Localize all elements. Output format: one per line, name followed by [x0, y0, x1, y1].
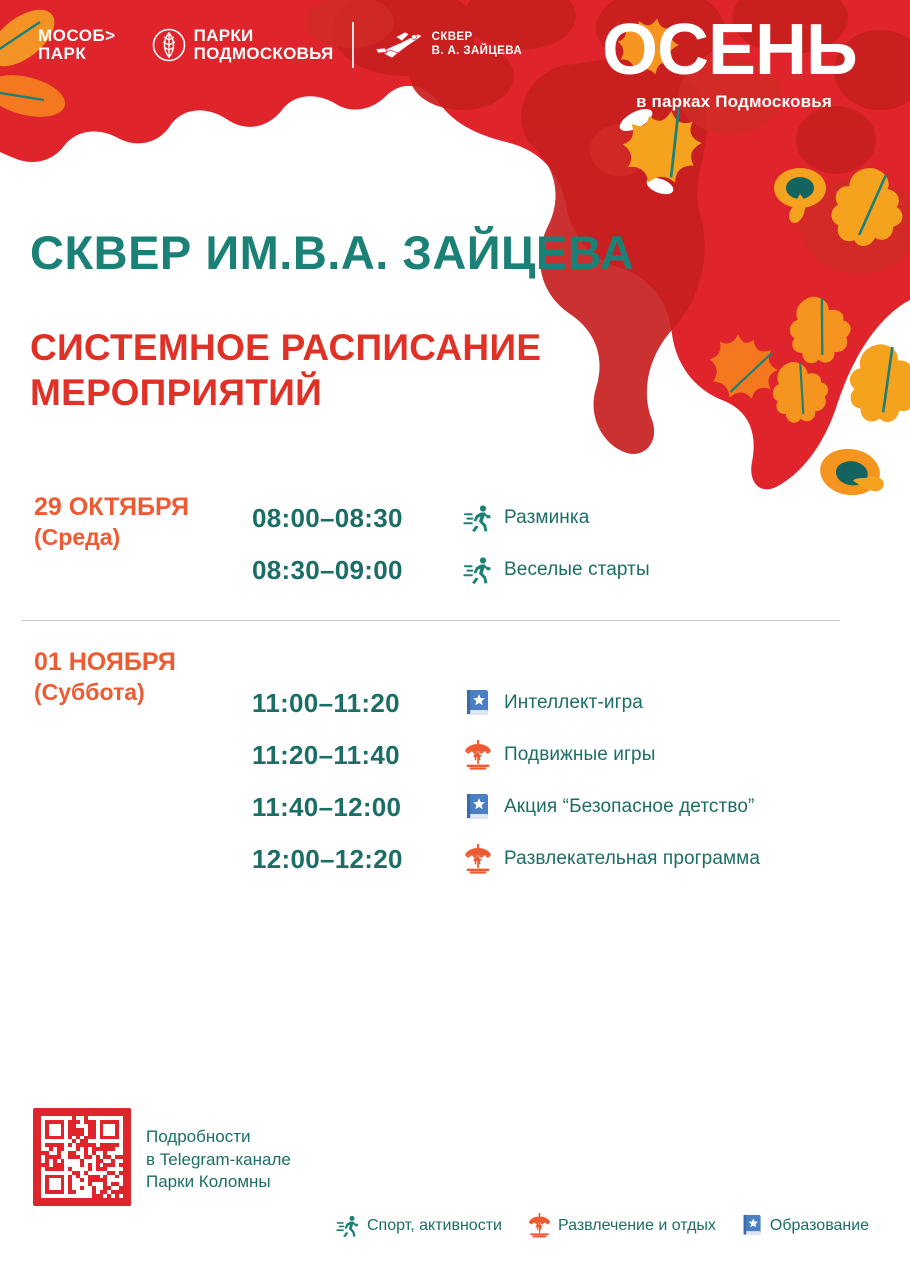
- day-date: 01 НОЯБРЯ: [34, 648, 176, 676]
- day-events: 11:00–11:20 Интеллект-игра 11: [252, 677, 910, 885]
- event-row: 11:00–11:20 Интеллект-игра: [252, 677, 910, 729]
- legend-label: Образование: [770, 1217, 869, 1235]
- event-time: 08:00–08:30: [252, 503, 452, 534]
- logo-parki-label: ПАРКИ ПОДМОСКОВЬЯ: [194, 27, 334, 64]
- logo-divider: [352, 22, 354, 68]
- schedule-day-block: 01 НОЯБРЯ (Суббота) 11:00–11:20: [0, 647, 910, 885]
- brand-wordmark: ОСЕНЬ: [600, 14, 868, 90]
- leaf-emblem-icon: [152, 28, 186, 62]
- schedule-day-block: 29 ОКТЯБРЯ (Среда) 08:00–08:30: [0, 492, 910, 596]
- plane-icon: [372, 28, 426, 62]
- event-name: Интеллект-игра: [504, 692, 643, 714]
- legend-item-sport: Спорт, активности: [336, 1214, 502, 1238]
- legend: Спорт, активности: [336, 1213, 869, 1238]
- qr-caption: Подробности в Telegram-канале Парки Коло…: [146, 1126, 291, 1194]
- section-divider: [22, 620, 840, 621]
- logo-mosobpark: МОСОБ> ПАРК: [38, 27, 116, 64]
- event-row: 12:00–12:20: [252, 833, 910, 885]
- runner-icon: [452, 555, 504, 585]
- qr-code-icon[interactable]: [33, 1108, 131, 1206]
- legend-item-education: Образование: [742, 1214, 869, 1237]
- page-title-kind: СИСТЕМНОЕ РАСПИСАНИЕ МЕРОПРИЯТИЙ: [30, 325, 541, 415]
- runner-icon: [336, 1214, 360, 1238]
- event-time: 11:00–11:20: [252, 688, 452, 719]
- event-row: 08:00–08:30: [252, 492, 910, 544]
- event-name: Разминка: [504, 507, 589, 529]
- event-time: 08:30–09:00: [252, 555, 452, 586]
- footer: Подробности в Telegram-канале Парки Коло…: [0, 1080, 910, 1280]
- brand-osen: ОСЕНЬ в парках Подмосковья: [600, 14, 868, 112]
- header-logos: МОСОБ> ПАРК ПАРКИ ПОДМОСКОВЬЯ: [38, 22, 522, 68]
- event-row: 08:30–09:00: [252, 544, 910, 596]
- book-icon: [452, 689, 504, 717]
- poster-root: МОСОБ> ПАРК ПАРКИ ПОДМОСКОВЬЯ: [0, 0, 910, 1280]
- qr-code-modules: [41, 1116, 123, 1198]
- book-icon: [452, 793, 504, 821]
- event-name: Развлекательная программа: [504, 848, 760, 870]
- logo-parki-podmoskovya: ПАРКИ ПОДМОСКОВЬЯ: [152, 27, 334, 64]
- carousel-icon: [452, 740, 504, 770]
- event-time: 11:40–12:00: [252, 792, 452, 823]
- legend-label: Спорт, активности: [367, 1217, 502, 1235]
- event-time: 12:00–12:20: [252, 844, 452, 875]
- day-weekday: (Среда): [34, 523, 252, 551]
- event-row: 11:40–12:00 Акция “Безопасное детство”: [252, 781, 910, 833]
- event-row: 11:20–11:40: [252, 729, 910, 781]
- book-icon: [742, 1214, 763, 1237]
- svg-text:ОСЕНЬ: ОСЕНЬ: [602, 14, 857, 90]
- day-label: 01 НОЯБРЯ (Суббота): [0, 647, 252, 706]
- day-label: 29 ОКТЯБРЯ (Среда): [0, 492, 252, 551]
- carousel-icon: [452, 844, 504, 874]
- logo-skver-zaytseva: СКВЕР В. А. ЗАЙЦЕВА: [372, 28, 522, 62]
- schedule: 29 ОКТЯБРЯ (Среда) 08:00–08:30: [0, 492, 910, 885]
- page-title-venue: СКВЕР ИМ.В.А. ЗАЙЦЕВА: [30, 228, 634, 277]
- logo-skver-label: СКВЕР В. А. ЗАЙЦЕВА: [432, 31, 522, 59]
- brand-subtitle: в парках Подмосковья: [600, 92, 868, 112]
- runner-icon: [452, 503, 504, 533]
- day-date: 29 ОКТЯБРЯ: [34, 493, 189, 521]
- legend-item-entertainment: Развлечение и отдых: [528, 1213, 716, 1238]
- event-time: 11:20–11:40: [252, 740, 452, 771]
- event-name: Веселые старты: [504, 559, 650, 581]
- day-weekday: (Суббота): [34, 678, 252, 706]
- event-name: Акция “Безопасное детство”: [504, 796, 754, 818]
- event-name: Подвижные игры: [504, 744, 655, 766]
- legend-label: Развлечение и отдых: [558, 1217, 716, 1235]
- carousel-icon: [528, 1213, 551, 1238]
- day-events: 08:00–08:30: [252, 492, 910, 596]
